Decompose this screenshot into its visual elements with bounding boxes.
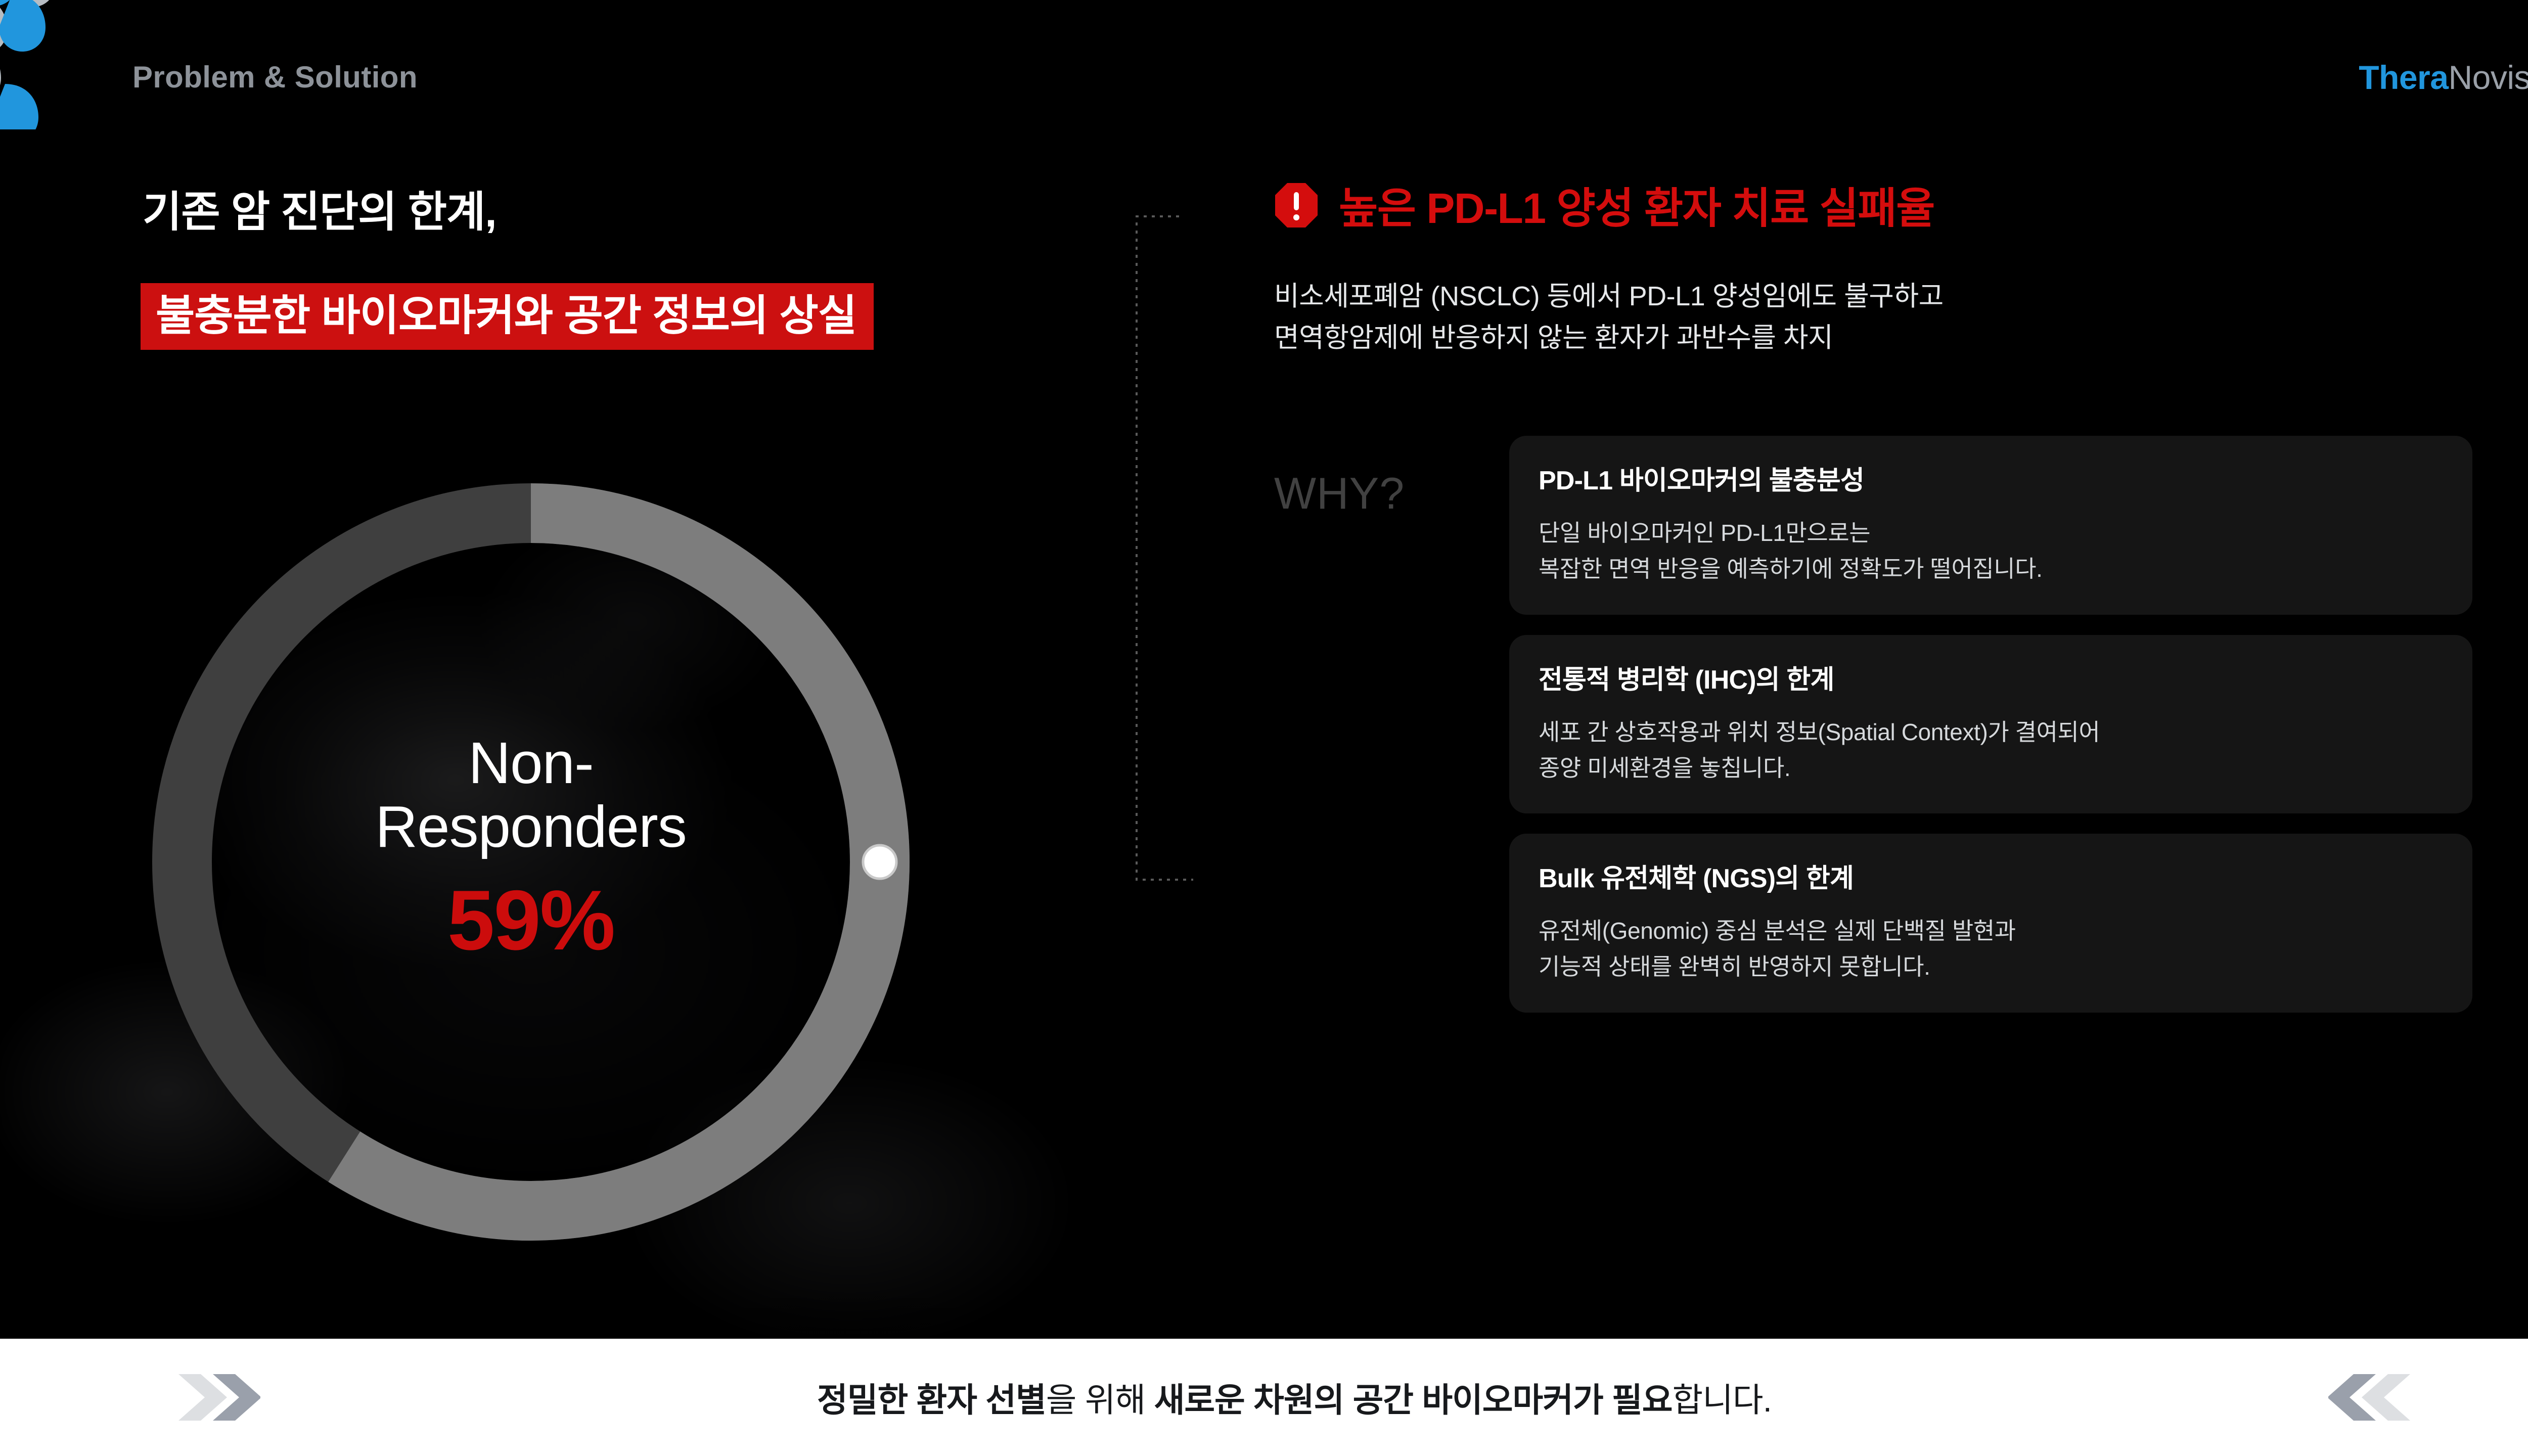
reason-card-body: 유전체(Genomic) 중심 분석은 실제 단백질 발현과 기능적 상태를 완… bbox=[1539, 913, 2443, 985]
footer-bar: 정밀한 환자 선별을 위해 새로운 차원의 공간 바이오마커가 필요합니다. bbox=[0, 1339, 2528, 1456]
reason-card-body-line-1: 유전체(Genomic) 중심 분석은 실제 단백질 발현과 bbox=[1539, 913, 2443, 949]
footer-bold-2: 새로운 차원의 공간 바이오마커가 필요 bbox=[1154, 1381, 1673, 1419]
section-kicker: Problem & Solution bbox=[132, 60, 418, 95]
double-chevron-left-icon bbox=[2328, 1367, 2414, 1428]
warning-octagon-icon bbox=[1274, 182, 1319, 229]
connector-path bbox=[1137, 216, 1193, 880]
why-label: WHY? bbox=[1274, 468, 1405, 519]
theranovis-logo-mark-icon bbox=[0, 0, 116, 129]
donut-center-text: Non- Responders 59% bbox=[126, 458, 935, 1266]
reason-card-title: Bulk 유전체학 (NGS)의 한계 bbox=[1539, 857, 2443, 895]
warning-subtitle-line-1: 비소세포폐암 (NSCLC) 등에서 PD-L1 양성임에도 불구하고 bbox=[1274, 281, 1944, 311]
non-responders-donut-chart: Non- Responders 59% bbox=[126, 458, 935, 1266]
reason-card-body-line-2: 종양 미세환경을 놓칩니다. bbox=[1539, 750, 2443, 786]
warning-subtitle-line-2: 면역항암제에 반응하지 않는 환자가 과반수를 차지 bbox=[1274, 323, 1833, 353]
reason-card-title: PD-L1 바이오마커의 불충분성 bbox=[1539, 459, 2443, 497]
warning-header: 높은 PD-L1 양성 환자 치료 실패율 bbox=[1274, 174, 1934, 236]
footer-regular-2: 합니다. bbox=[1672, 1381, 1772, 1419]
reason-card-title: 전통적 병리학 (IHC)의 한계 bbox=[1539, 658, 2443, 696]
reason-card[interactable]: Bulk 유전체학 (NGS)의 한계 유전체(Genomic) 중심 분석은 … bbox=[1509, 834, 2472, 1013]
brand-logotype: TheraNovis bbox=[2359, 58, 2528, 97]
donut-label: Non- Responders bbox=[375, 731, 686, 859]
brand-secondary: Novis bbox=[2448, 59, 2528, 96]
footer-regular-1: 을 위해 bbox=[1046, 1381, 1154, 1419]
reason-card-body: 단일 바이오마커인 PD-L1만으로는 복잡한 면역 반응을 예측하기에 정확도… bbox=[1539, 515, 2443, 587]
donut-label-line-2: Responders bbox=[375, 794, 686, 859]
reason-card-body-line-1: 세포 간 상호작용과 위치 정보(Spatial Context)가 결여되어 bbox=[1539, 714, 2443, 750]
double-chevron-right-icon bbox=[174, 1367, 260, 1428]
headline-line-1: 기존 암 진단의 한계, bbox=[143, 178, 496, 239]
donut-value: 59% bbox=[447, 878, 614, 963]
donut-label-line-1: Non- bbox=[468, 730, 593, 796]
footer-message: 정밀한 환자 선별을 위해 새로운 차원의 공간 바이오마커가 필요합니다. bbox=[817, 1373, 1772, 1422]
footer-bold-1: 정밀한 환자 선별 bbox=[817, 1381, 1046, 1419]
reason-card[interactable]: PD-L1 바이오마커의 불충분성 단일 바이오마커인 PD-L1만으로는 복잡… bbox=[1509, 436, 2472, 615]
reason-card-body: 세포 간 상호작용과 위치 정보(Spatial Context)가 결여되어 … bbox=[1539, 714, 2443, 787]
reason-card-body-line-1: 단일 바이오마커인 PD-L1만으로는 bbox=[1539, 515, 2443, 551]
headline-highlight-band: 불충분한 바이오마커와 공간 정보의 상실 bbox=[141, 283, 874, 350]
reason-card-body-line-2: 기능적 상태를 완벽히 반영하지 못합니다. bbox=[1539, 949, 2443, 985]
warning-subtitle: 비소세포폐암 (NSCLC) 등에서 PD-L1 양성임에도 불구하고 면역항암… bbox=[1274, 276, 1944, 358]
brand-primary: Thera bbox=[2359, 59, 2448, 96]
reason-card-list: PD-L1 바이오마커의 불충분성 단일 바이오마커인 PD-L1만으로는 복잡… bbox=[1509, 436, 2472, 1033]
reason-card-body-line-2: 복잡한 면역 반응을 예측하기에 정확도가 떨어집니다. bbox=[1539, 551, 2443, 587]
donut-to-panel-connector bbox=[1133, 212, 1193, 890]
slide-root: Problem & Solution TheraNovis 기존 암 진단의 한… bbox=[0, 0, 2528, 1456]
reason-card[interactable]: 전통적 병리학 (IHC)의 한계 세포 간 상호작용과 위치 정보(Spati… bbox=[1509, 635, 2472, 814]
warning-title: 높은 PD-L1 양성 환자 치료 실패율 bbox=[1339, 174, 1934, 236]
